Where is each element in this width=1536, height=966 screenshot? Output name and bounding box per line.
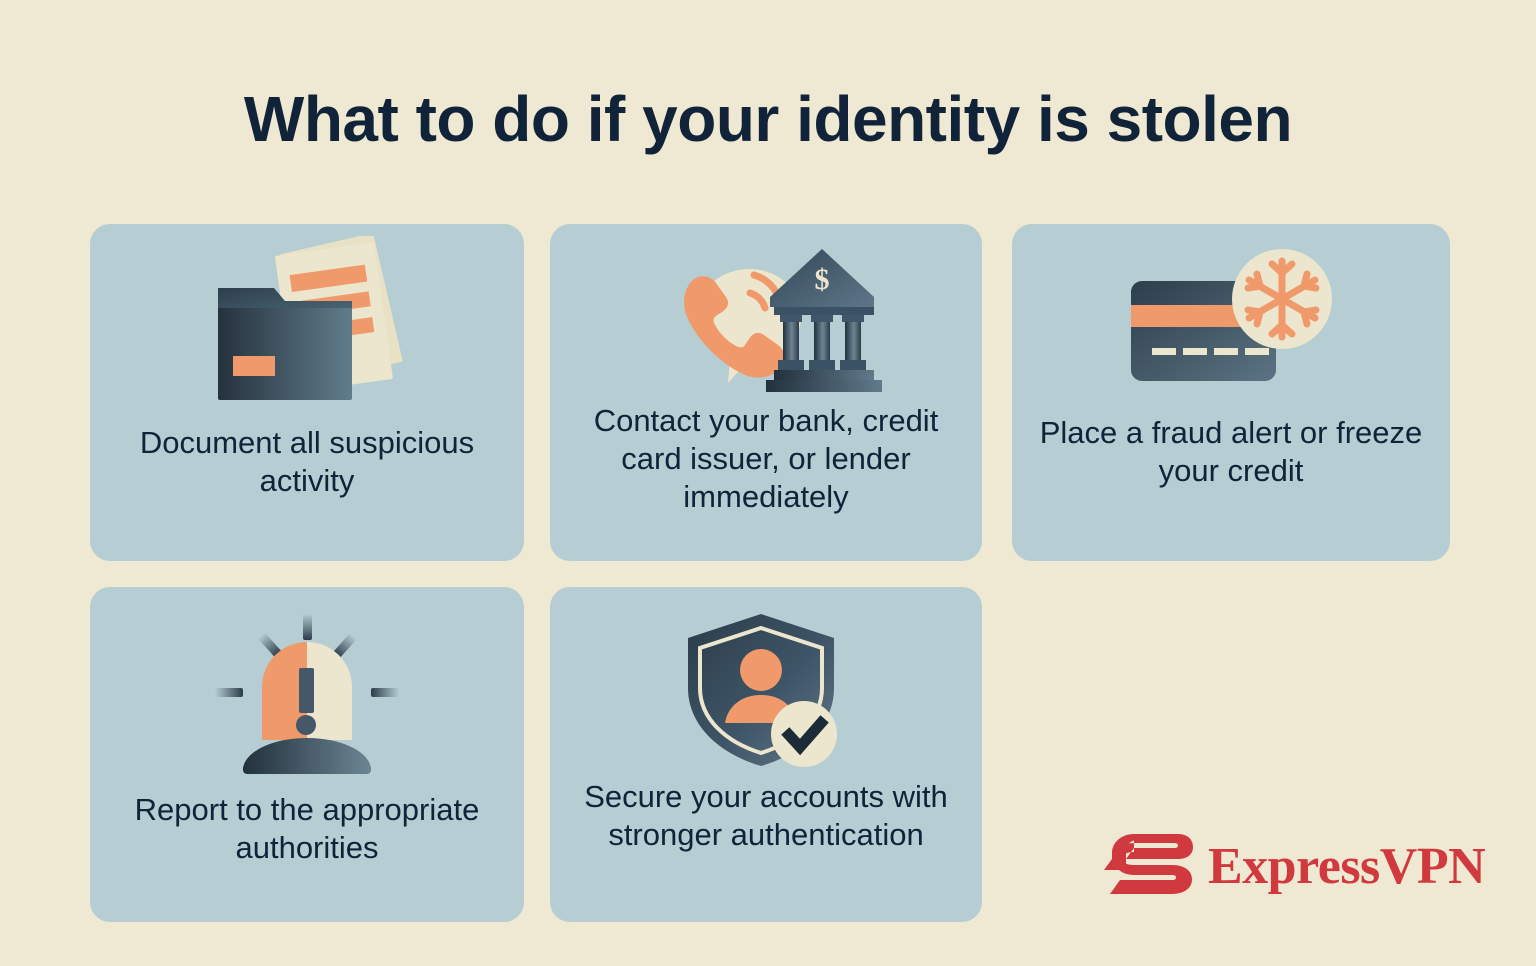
expressvpn-wordmark: ExpressVPN: [1208, 837, 1485, 896]
cards-grid: Document all suspicious activity: [90, 224, 1450, 922]
page-title: What to do if your identity is stolen: [0, 82, 1536, 156]
shield-user-check-icon: [550, 587, 982, 772]
card-label: Contact your bank, credit card issuer, o…: [550, 402, 982, 515]
expressvpn-e-mark-icon: [1104, 832, 1194, 901]
card-secure-accounts[interactable]: Secure your accounts with stronger authe…: [550, 587, 982, 922]
card-label: Report to the appropriate authorities: [90, 791, 524, 867]
bank-phone-call-icon: $: [550, 224, 982, 404]
svg-text:$: $: [815, 263, 830, 296]
infographic-page: What to do if your identity is stolen: [0, 0, 1536, 966]
folder-documents-icon: [90, 224, 524, 424]
card-document-activity[interactable]: Document all suspicious activity: [90, 224, 524, 561]
card-report-authorities[interactable]: Report to the appropriate authorities: [90, 587, 524, 922]
credit-card-freeze-icon: [1012, 224, 1450, 414]
card-label: Secure your accounts with stronger authe…: [550, 778, 982, 854]
card-label: Place a fraud alert or freeze your credi…: [1012, 414, 1450, 490]
siren-alert-icon: [90, 587, 524, 777]
card-contact-bank[interactable]: $: [550, 224, 982, 561]
card-fraud-alert[interactable]: Place a fraud alert or freeze your credi…: [1012, 224, 1450, 561]
card-label: Document all suspicious activity: [90, 424, 524, 500]
expressvpn-logo[interactable]: ExpressVPN: [1104, 832, 1485, 901]
